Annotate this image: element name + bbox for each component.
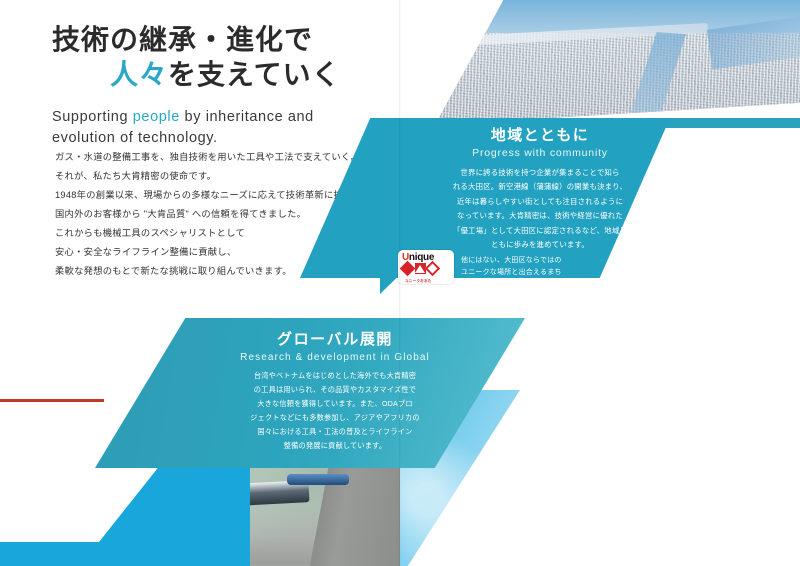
- diamond-icon: [400, 261, 416, 277]
- global-line: ジェクトなどにも多数参加し、アジアやアフリカの: [190, 411, 480, 425]
- unique-shapes-row: [402, 263, 438, 274]
- brochure-spread: 技術の継承・進化で 人々を支えていく Supporting people by …: [0, 0, 800, 566]
- headline-block: 技術の継承・進化で 人々を支えていく Supporting people by …: [52, 22, 382, 149]
- global-line: 台湾やベトナムをはじめとした海外でも大肯精密: [190, 369, 480, 383]
- page-gutter: [399, 0, 401, 566]
- photo-faucet-handle: [287, 474, 349, 485]
- global-line: 整備の発展に貢献しています。: [190, 439, 480, 453]
- red-accent-line: [0, 399, 104, 402]
- headline-accent-word: 人々: [110, 59, 168, 90]
- global-line: 国々における工具・工法の普及とライフライン: [190, 425, 480, 439]
- unique-logo: Unique ユニークおおた: [398, 250, 454, 284]
- intro-line: ガス・水道の整備工事を、独自技術を用いた工具や工法で支えていく。: [55, 148, 385, 167]
- unique-caption: 他にはない、大田区ならではの ユニークな場所と出合えるまち: [461, 255, 562, 279]
- global-line: の工具は用いられ、その品質やカスタマイズ性で: [190, 383, 480, 397]
- global-line: 大きな信頼を獲得しています。また、ODAプロ: [190, 397, 480, 411]
- community-line: 「優工場」として大田区に認定されるなど、地域と: [415, 224, 665, 238]
- subtitle-part-2: by inheritance and: [180, 109, 314, 125]
- diamond-outline-icon: [425, 261, 441, 277]
- subtitle-line-2: evolution of technology.: [52, 130, 218, 146]
- headline-line-2: 人々を支えていく: [110, 57, 382, 93]
- community-title: 地域とともに: [415, 124, 665, 145]
- intro-line: それが、私たち大肯精密の使命です。: [55, 167, 385, 186]
- arrow-up-icon: [415, 265, 425, 273]
- global-section: グローバル展開 Research & development in Global…: [190, 328, 480, 453]
- community-subtitle: Progress with community: [415, 147, 665, 159]
- headline-line-1: 技術の継承・進化で: [52, 22, 382, 57]
- global-title: グローバル展開: [190, 328, 480, 349]
- unique-caption-line: 他にはない、大田区ならではの: [461, 255, 562, 267]
- community-body: 世界に誇る技術を持つ企業が集まることで知ら れる大田区。新空港線（蒲蒲線）の開業…: [415, 166, 665, 253]
- subtitle-accent-word: people: [133, 109, 180, 125]
- unique-rest-letters: nique: [409, 252, 434, 263]
- subtitle-english: Supporting people by inheritance andevol…: [52, 107, 382, 149]
- unique-ota-badge: Unique ユニークおおた 他にはない、大田区ならではの ユニークな場所と出合…: [398, 250, 598, 284]
- community-line: 近年は暮らしやすい街としても注目されるように: [415, 195, 665, 209]
- community-line: なっています。大肯精密は、技術や経営に優れた: [415, 209, 665, 223]
- community-section: 地域とともに Progress with community 世界に誇る技術を持…: [415, 124, 665, 253]
- unique-caption-line: ユニークな場所と出合えるまち: [461, 267, 562, 279]
- community-line: 世界に誇る技術を持つ企業が集まることで知ら: [415, 166, 665, 180]
- global-body: 台湾やベトナムをはじめとした海外でも大肯精密 の工具は用いられ、その品質やカスタ…: [190, 369, 480, 453]
- global-subtitle: Research & development in Global: [190, 352, 480, 363]
- unique-tagline: ユニークおおた: [405, 279, 432, 284]
- subtitle-part-1: Supporting: [52, 109, 133, 125]
- community-line: れる大田区。新空港線（蒲蒲線）の開業も決まり、: [415, 180, 665, 194]
- headline-rest: を支えていく: [168, 59, 341, 90]
